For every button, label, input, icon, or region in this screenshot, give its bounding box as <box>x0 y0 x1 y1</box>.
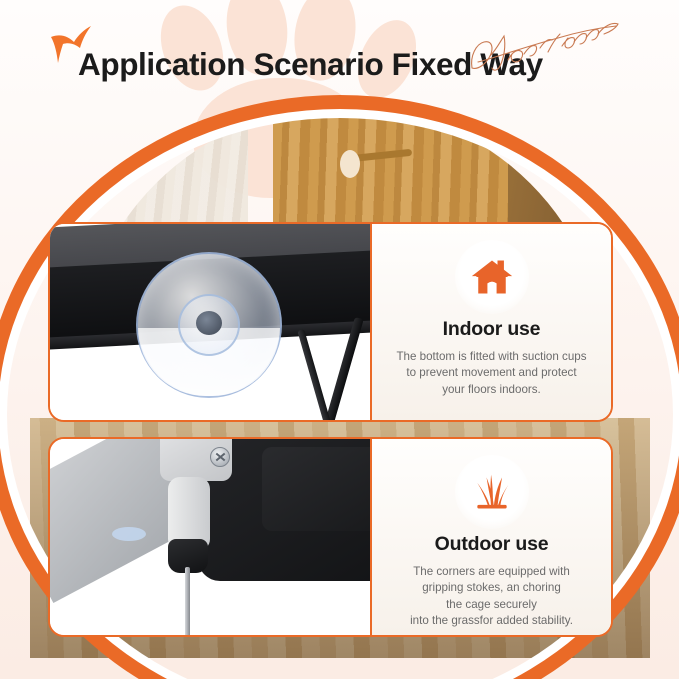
desc-line: the cage securely <box>410 597 573 613</box>
indoor-title: Indoor use <box>443 318 541 341</box>
ground-stake <box>185 567 190 635</box>
desc-line: The corners are equipped with <box>410 564 573 580</box>
outdoor-text-pane: Outdoor use The corners are equipped wit… <box>370 439 611 635</box>
indoor-text-pane: Indoor use The bottom is fitted with suc… <box>370 224 611 420</box>
outdoor-description: The corners are equipped with gripping s… <box>396 564 587 630</box>
feature-card-indoor: Indoor use The bottom is fitted with suc… <box>48 222 613 422</box>
desc-line: your floors indoors. <box>396 382 586 398</box>
screw-icon <box>210 447 230 467</box>
desc-line: The bottom is fitted with suction cups <box>396 349 586 365</box>
page-title: Application Scenario Fixed Way <box>78 46 543 83</box>
suction-cup-nub <box>196 311 222 335</box>
grass-icon <box>455 455 529 529</box>
ground-stake-photo <box>50 439 370 635</box>
outdoor-title: Outdoor use <box>435 533 549 556</box>
desc-line: gripping stokes, an choring <box>410 580 573 596</box>
infographic-poster: Application Scenario Fixed Way <box>0 0 679 679</box>
suction-cup-photo <box>50 224 370 420</box>
feature-card-outdoor: Outdoor use The corners are equipped wit… <box>48 437 613 637</box>
cage-panel <box>262 447 370 531</box>
bird-swoosh-icon <box>47 23 93 65</box>
house-icon <box>455 240 529 314</box>
suction-cup-edge <box>112 527 146 541</box>
cage-wire <box>297 329 331 420</box>
wall-niche <box>340 150 360 178</box>
suction-cup <box>136 252 282 398</box>
indoor-description: The bottom is fitted with suction cups t… <box>382 349 600 398</box>
desc-line: to prevent movement and protect <box>396 365 586 381</box>
desc-line: into the grassfor added stability. <box>410 613 573 629</box>
